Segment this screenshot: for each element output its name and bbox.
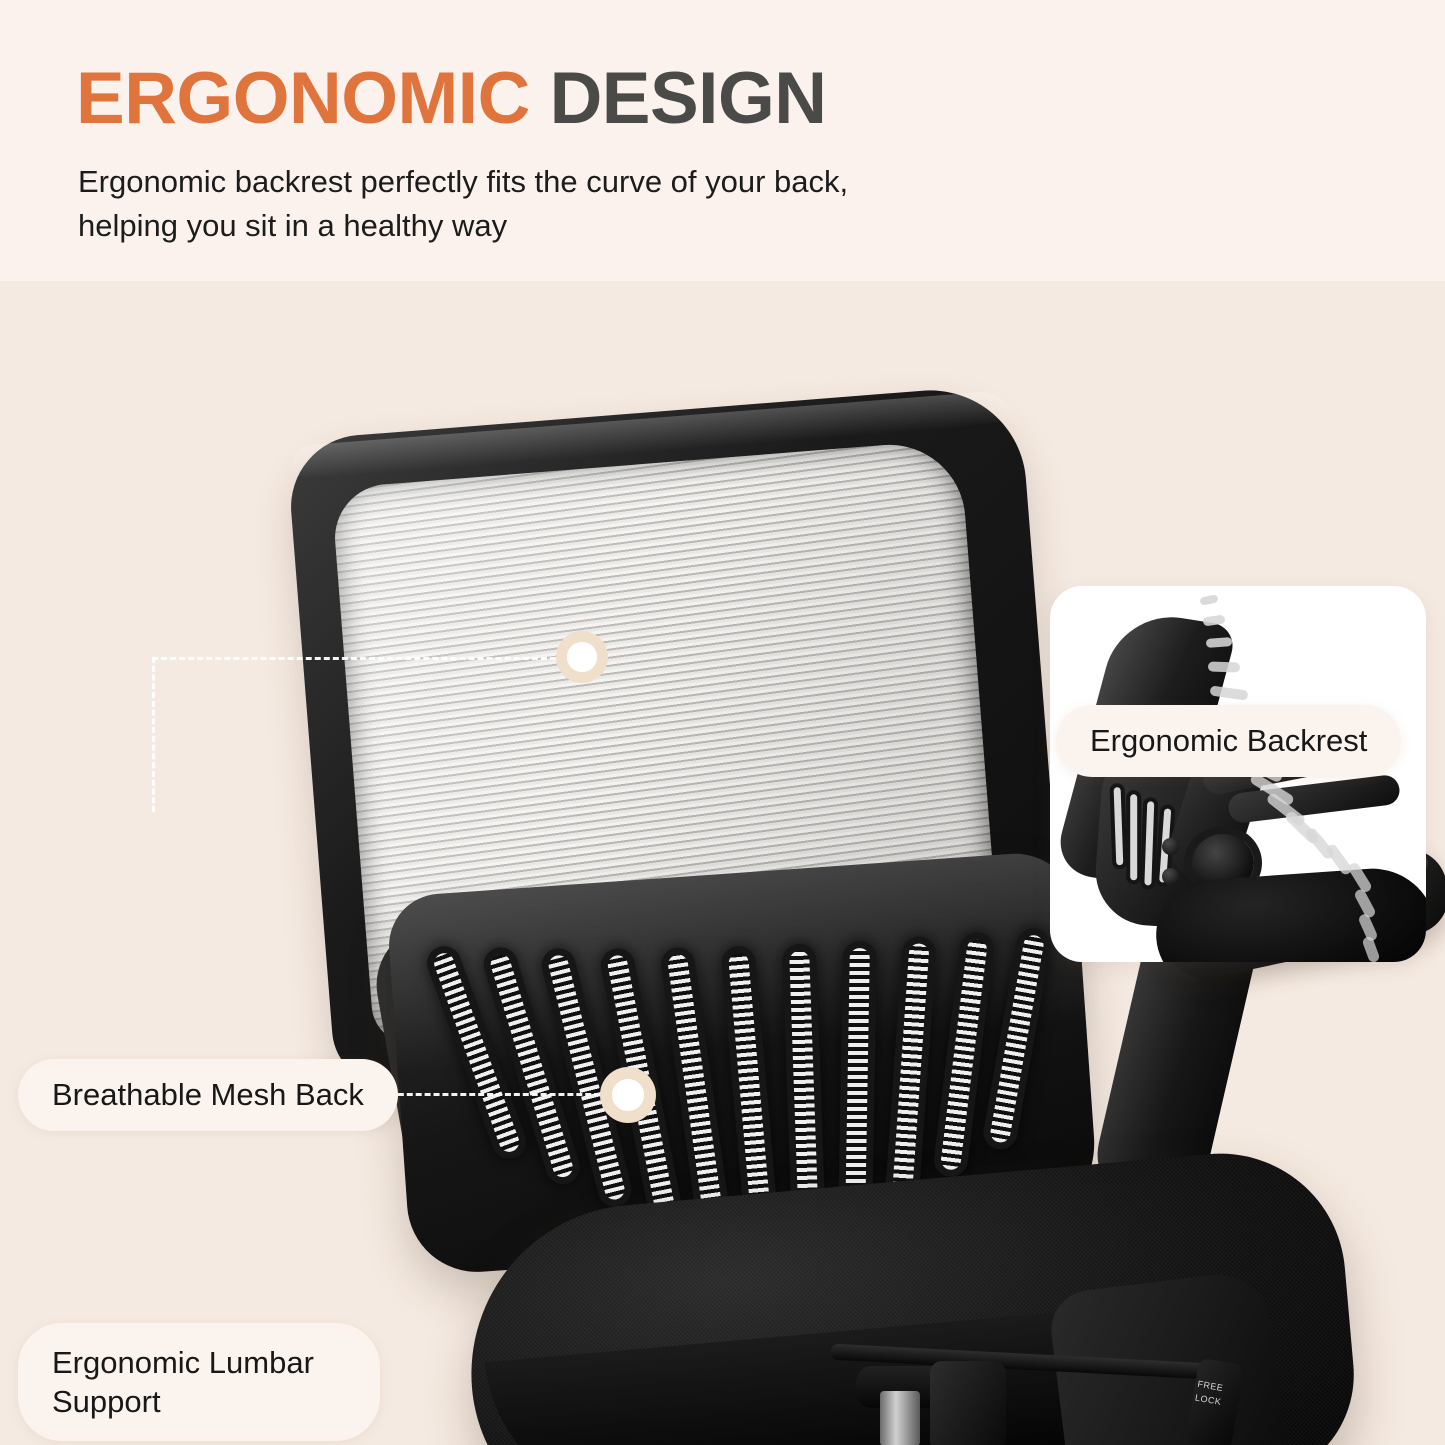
marker-dot-core — [567, 642, 596, 671]
backrest-curve-dash — [1202, 615, 1225, 627]
mesh-leader-horizontal — [152, 657, 574, 660]
subtitle-line-2: helping you sit in a healthy way — [78, 204, 1068, 248]
lumbar-vent-rib — [989, 934, 1045, 1144]
mesh-back-marker-dot — [556, 631, 608, 683]
lumbar-vent-rib — [892, 943, 929, 1195]
inset-shell-slot — [1130, 794, 1137, 880]
lumbar-vent-rib — [667, 953, 725, 1230]
inset-shell-slot — [1114, 787, 1124, 865]
height-adjust-lever — [930, 1361, 1006, 1445]
title-highlight: ERGONOMIC — [76, 58, 530, 139]
page-subtitle: Ergonomic backrest perfectly fits the cu… — [78, 160, 1068, 248]
backrest-curve-dash — [1208, 661, 1240, 672]
lumbar-vent-rib — [728, 952, 772, 1233]
lumbar-vent-rib — [789, 950, 819, 1227]
backrest-curve-dash — [1199, 594, 1218, 606]
callout-lumbar-label-line1: Ergonomic Lumbar — [52, 1343, 314, 1382]
callout-breathable-mesh-back[interactable]: Breathable Mesh Back — [18, 1059, 398, 1131]
lumbar-vent-rib — [940, 939, 988, 1171]
lumbar-leader-horizontal — [380, 1093, 618, 1096]
callout-backrest-label: Ergonomic Backrest — [1090, 721, 1367, 760]
backrest-curve-dash — [1206, 637, 1233, 648]
gas-lift-cylinder — [880, 1391, 920, 1445]
inset-screw-upper — [1162, 838, 1179, 855]
callout-lumbar-label-line2: Support — [52, 1382, 161, 1421]
page-title: ERGONOMIC DESIGN — [76, 62, 826, 135]
callout-ergonomic-lumbar-support[interactable]: Ergonomic Lumbar Support — [18, 1323, 380, 1441]
lumbar-vent-rib — [845, 947, 870, 1214]
lumbar-marker-dot — [600, 1067, 656, 1123]
product-photo-area: FREE LOCK — [0, 281, 1445, 1445]
callout-ergonomic-backrest[interactable]: Ergonomic Backrest — [1056, 705, 1401, 777]
header-band: ERGONOMIC DESIGN Ergonomic backrest perf… — [0, 0, 1445, 281]
mesh-leader-vertical — [152, 657, 155, 812]
marker-dot-core — [612, 1079, 643, 1110]
inset-screw-lower — [1162, 868, 1179, 885]
callout-mesh-label: Breathable Mesh Back — [52, 1075, 364, 1114]
inset-shell-slot — [1144, 801, 1154, 885]
infographic-canvas: ERGONOMIC DESIGN Ergonomic backrest perf… — [0, 0, 1445, 1445]
subtitle-line-1: Ergonomic backrest perfectly fits the cu… — [78, 160, 1068, 204]
title-rest: DESIGN — [530, 58, 827, 139]
